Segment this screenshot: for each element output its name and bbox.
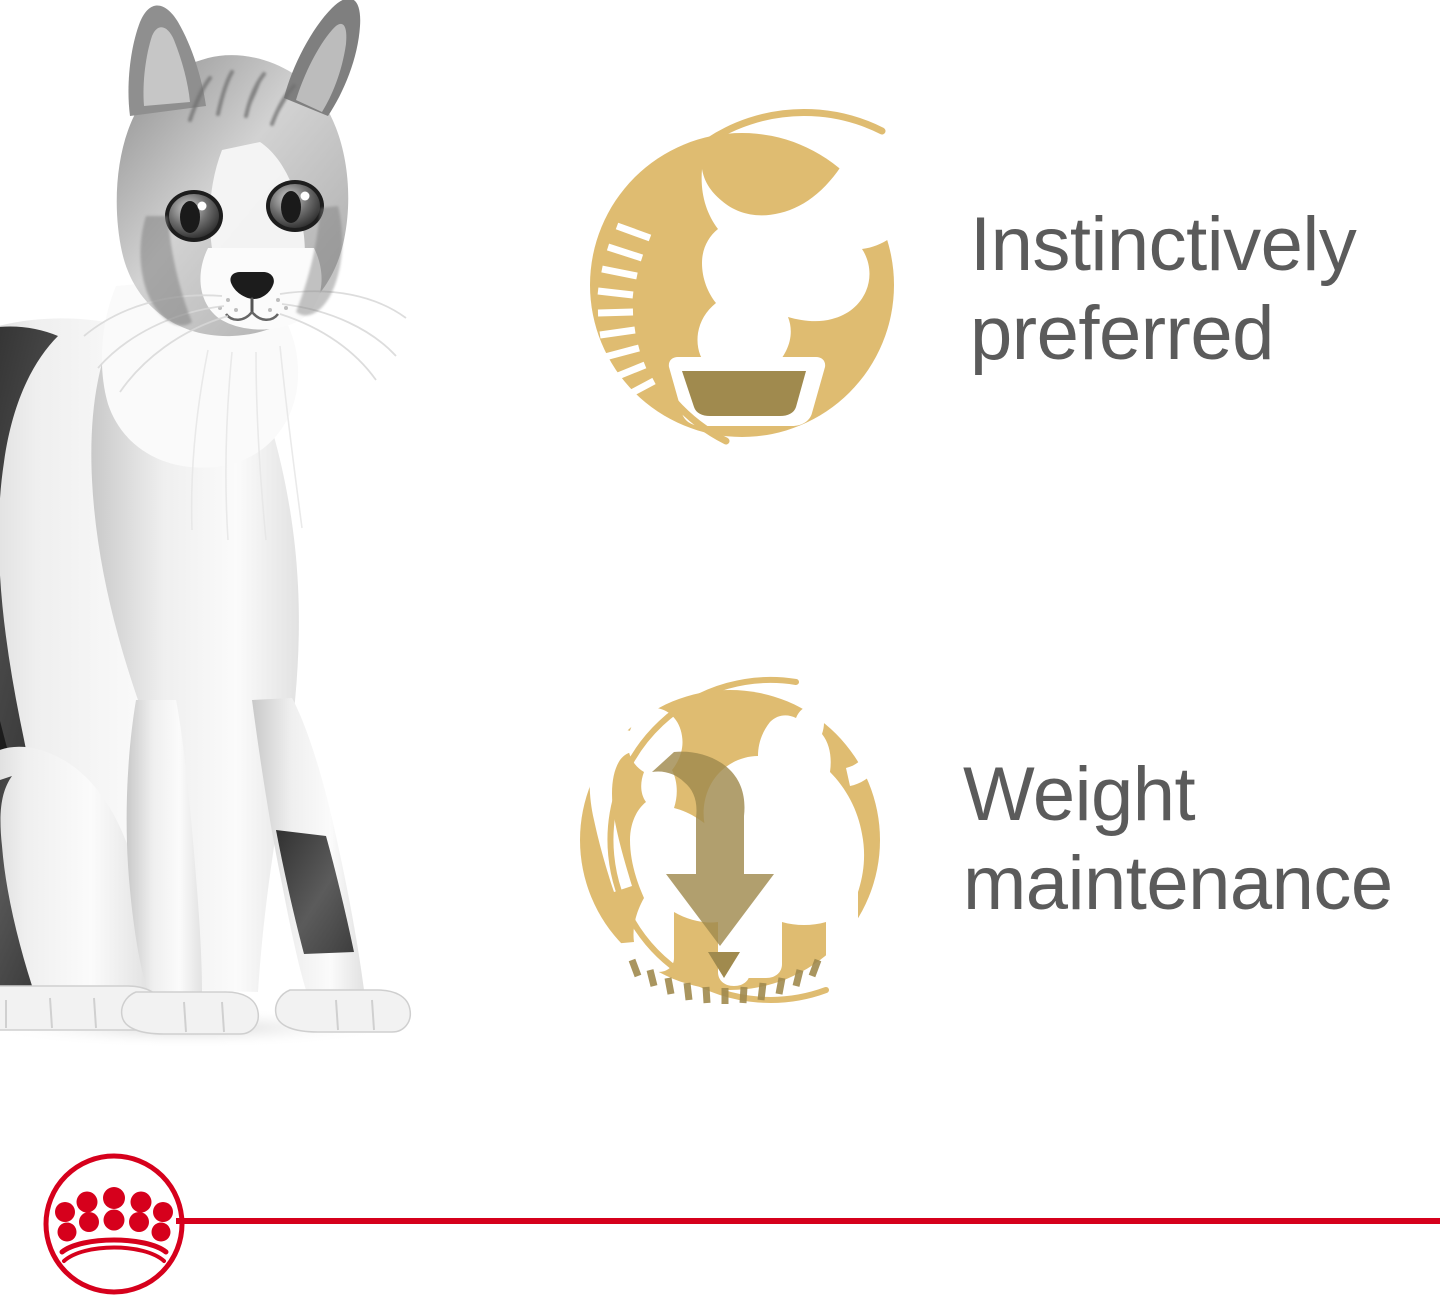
benefit-label-instinctively-preferred: Instinctively preferred xyxy=(958,201,1445,379)
two-cats-weight-scale-icon xyxy=(548,660,903,1020)
cat-with-food-bowl-icon xyxy=(530,95,930,485)
brand-rule xyxy=(176,1218,1440,1224)
benefit-label-weight-maintenance: Weight maintenance xyxy=(951,751,1445,929)
benefit-row-weight-maintenance: Weight maintenance xyxy=(548,655,1445,1025)
packaging-benefits-panel: Instinctively preferred xyxy=(0,0,1445,1300)
kitten-photo xyxy=(0,0,520,1085)
royal-canin-crown-logo xyxy=(42,1148,190,1300)
benefit-row-instinctively-preferred: Instinctively preferred xyxy=(530,95,1445,485)
